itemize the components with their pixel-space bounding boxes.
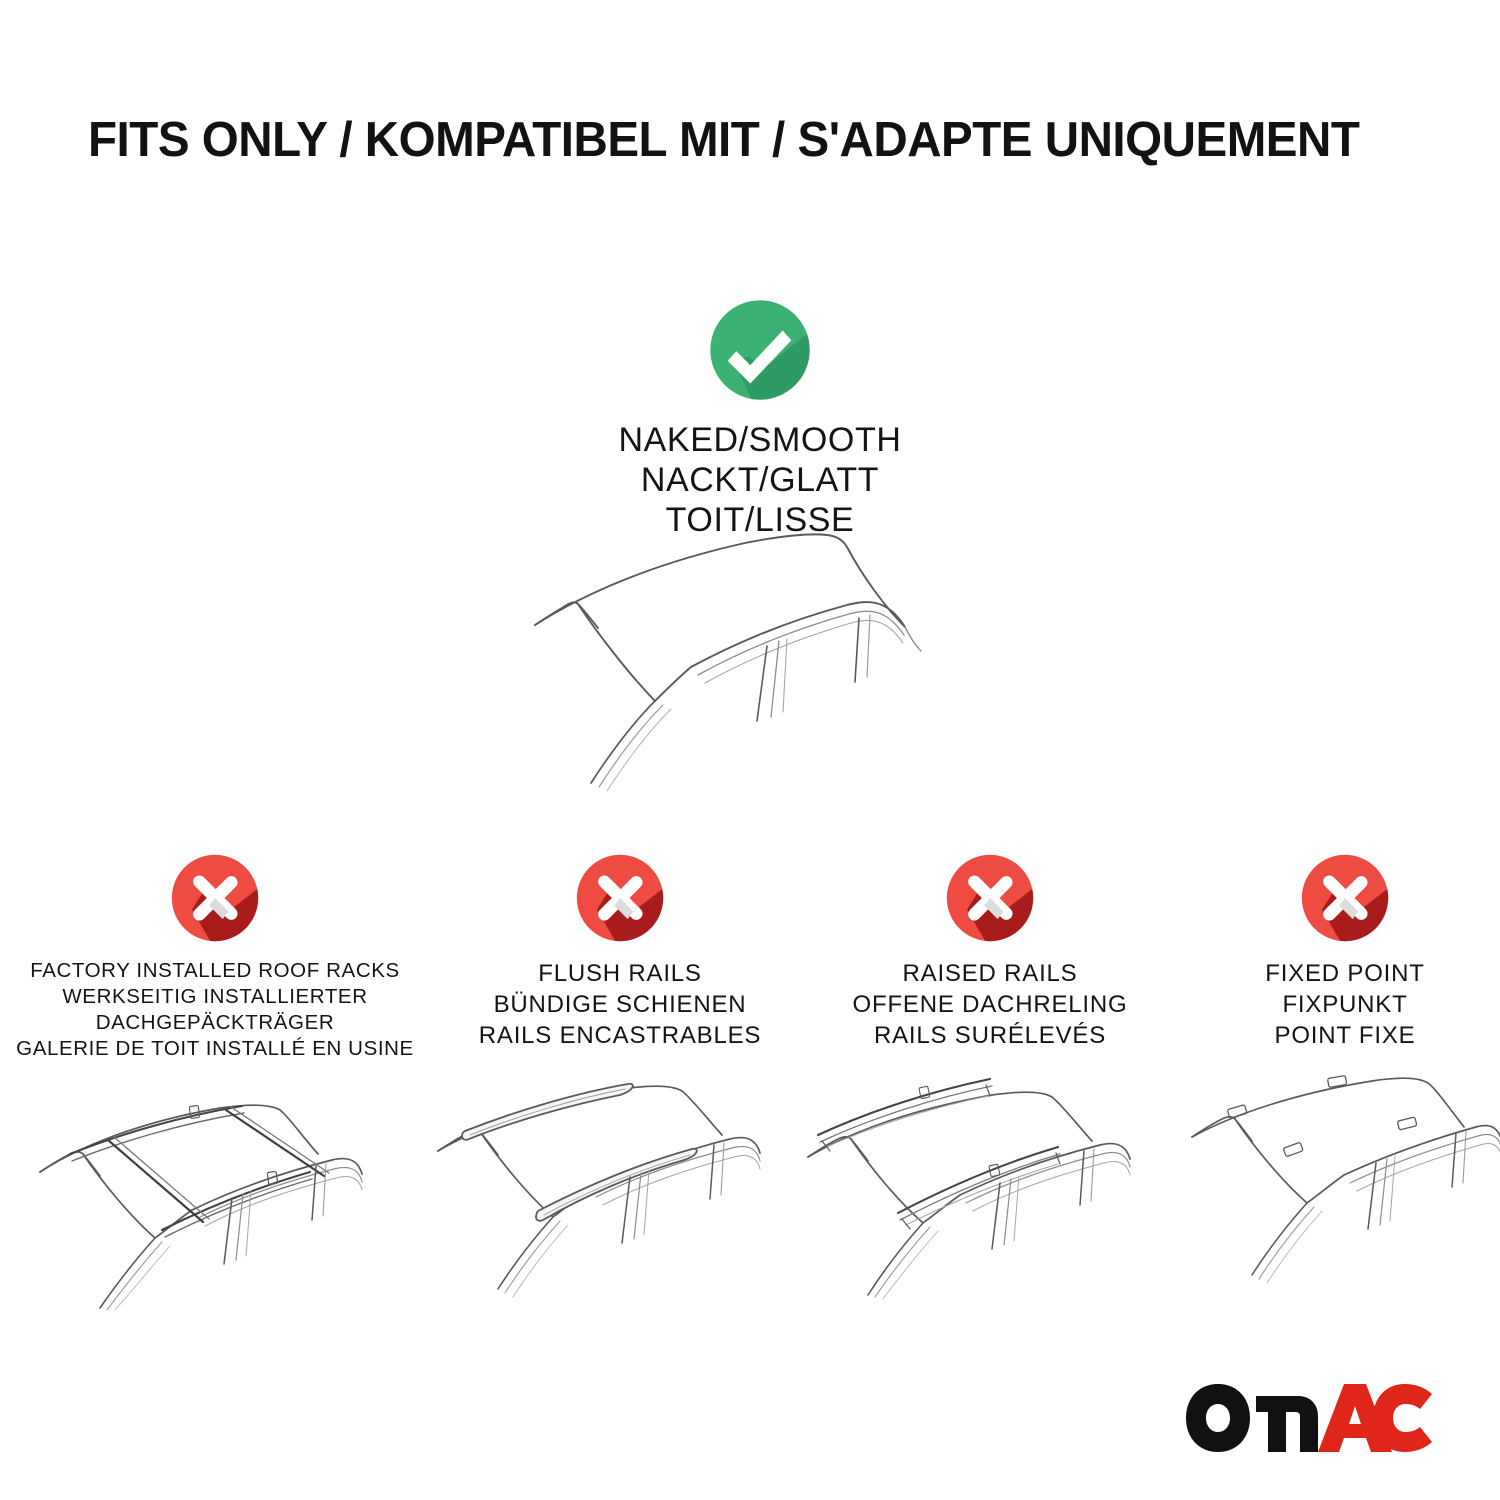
- incompatible-label-line-3: RAILS ENCASTRABLES: [420, 1020, 820, 1051]
- incompatible-label-line-3: POINT FIXE: [1180, 1020, 1500, 1051]
- incompatible-label-line-3: DACHGEPÄCKTRÄGER: [10, 1010, 420, 1036]
- cross-circle-icon: [942, 850, 1038, 946]
- incompatible-label-line-1: FACTORY INSTALLED ROOF RACKS: [10, 958, 420, 984]
- incompatible-item-fixed-point: FIXED POINT FIXPUNKT POINT FIXE: [1180, 850, 1500, 1299]
- incompatible-item-factory-installed-roof-racks: FACTORY INSTALLED ROOF RACKS WERKSEITIG …: [10, 850, 420, 1310]
- incompatible-label-line-2: FIXPUNKT: [1180, 989, 1500, 1020]
- incompatible-item-raised-rails: RAISED RAILS OFFENE DACHRELING RAILS SUR…: [790, 850, 1190, 1299]
- incompatible-label-line-2: BÜNDIGE SCHIENEN: [420, 989, 820, 1020]
- incompatible-label-line-1: RAISED RAILS: [790, 958, 1190, 989]
- car-roof-with-factory-rack-and-crossbars: [10, 1080, 420, 1310]
- bare-car-roof-illustration: [495, 515, 1025, 815]
- incompatible-label-line-3: RAILS SURÉLEVÉS: [790, 1020, 1190, 1051]
- incompatible-label-line-1: FLUSH RAILS: [420, 958, 820, 989]
- incompatible-label-group: FACTORY INSTALLED ROOF RACKS WERKSEITIG …: [10, 958, 420, 1062]
- incompatible-item-flush-rails: FLUSH RAILS BÜNDIGE SCHIENEN RAILS ENCAS…: [420, 850, 820, 1299]
- incompatible-label-line-1: FIXED POINT: [1180, 958, 1500, 989]
- compatible-section: NAKED/SMOOTH NACKT/GLATT TOIT/LISSE: [500, 296, 1020, 540]
- omac-logo: [1184, 1382, 1434, 1454]
- compatible-label-line-1: NAKED/SMOOTH: [500, 420, 1020, 460]
- incompatible-label-group: FIXED POINT FIXPUNKT POINT FIXE: [1180, 958, 1500, 1051]
- cross-circle-icon: [572, 850, 668, 946]
- check-circle-icon: [706, 296, 814, 404]
- compatible-label-line-2: NACKT/GLATT: [500, 460, 1020, 500]
- incompatible-label-line-4: GALERIE DE TOIT INSTALLÉ EN USINE: [10, 1036, 420, 1062]
- car-roof-with-fixed-points: [1180, 1069, 1500, 1299]
- page-title: FITS ONLY / KOMPATIBEL MIT / S'ADAPTE UN…: [88, 108, 1378, 172]
- cross-circle-icon: [167, 850, 263, 946]
- incompatible-label-line-2: WERKSEITIG INSTALLIERTER: [10, 984, 420, 1010]
- incompatible-label-group: FLUSH RAILS BÜNDIGE SCHIENEN RAILS ENCAS…: [420, 958, 820, 1051]
- incompatible-section: FACTORY INSTALLED ROOF RACKS WERKSEITIG …: [0, 850, 1500, 1470]
- car-roof-with-flush-rails: [420, 1069, 820, 1299]
- cross-circle-icon: [1297, 850, 1393, 946]
- incompatible-label-group: RAISED RAILS OFFENE DACHRELING RAILS SUR…: [790, 958, 1190, 1051]
- car-roof-with-raised-rails: [790, 1069, 1190, 1299]
- incompatible-label-line-2: OFFENE DACHRELING: [790, 989, 1190, 1020]
